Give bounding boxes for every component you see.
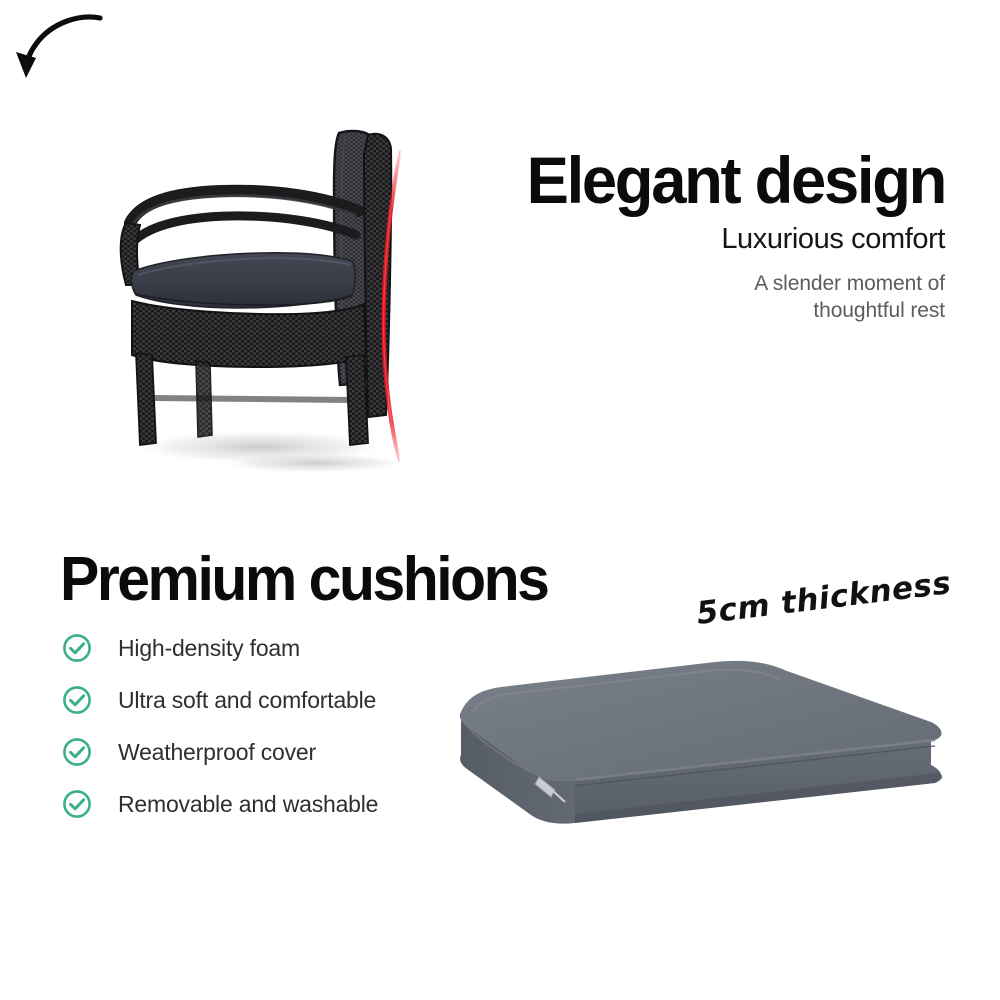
check-circle-icon (62, 737, 92, 767)
list-item-label: Removable and washable (118, 791, 378, 817)
premium-cushions-title: Premium cushions (60, 547, 547, 613)
elegant-design-subheadline: Luxurious comfort (470, 222, 945, 256)
thickness-annotation: 5cm thickness (695, 565, 954, 632)
arrow-head (16, 52, 36, 78)
blurb-line-1: A slender moment of (470, 270, 945, 297)
blurb-line-2: thoughtful rest (470, 297, 945, 324)
list-item-label: Ultra soft and comfortable (118, 687, 376, 713)
check-circle-icon (62, 685, 92, 715)
list-item-label: High-density foam (118, 635, 300, 661)
grey-cushion-illustration (415, 640, 960, 840)
list-item-label: Weatherproof cover (118, 739, 316, 765)
check-circle-icon (62, 633, 92, 663)
chair-floor-shadow-2 (220, 453, 410, 473)
chair-seat-apron (132, 301, 366, 367)
elegant-design-headline: Elegant design (489, 145, 945, 215)
wicker-armchair-illustration (100, 95, 480, 515)
arrow-shaft (26, 17, 100, 68)
chair-armrest-rail-lower (130, 216, 356, 245)
chair-stretcher (152, 395, 350, 403)
elegant-design-text-block: Elegant design Luxurious comfort A slend… (470, 145, 945, 324)
elegant-design-blurb: A slender moment of thoughtful rest (470, 270, 945, 324)
curved-arrow-icon (0, 0, 110, 90)
infographic-canvas: Elegant design Luxurious comfort A slend… (0, 0, 1000, 1000)
check-circle-icon (62, 789, 92, 819)
